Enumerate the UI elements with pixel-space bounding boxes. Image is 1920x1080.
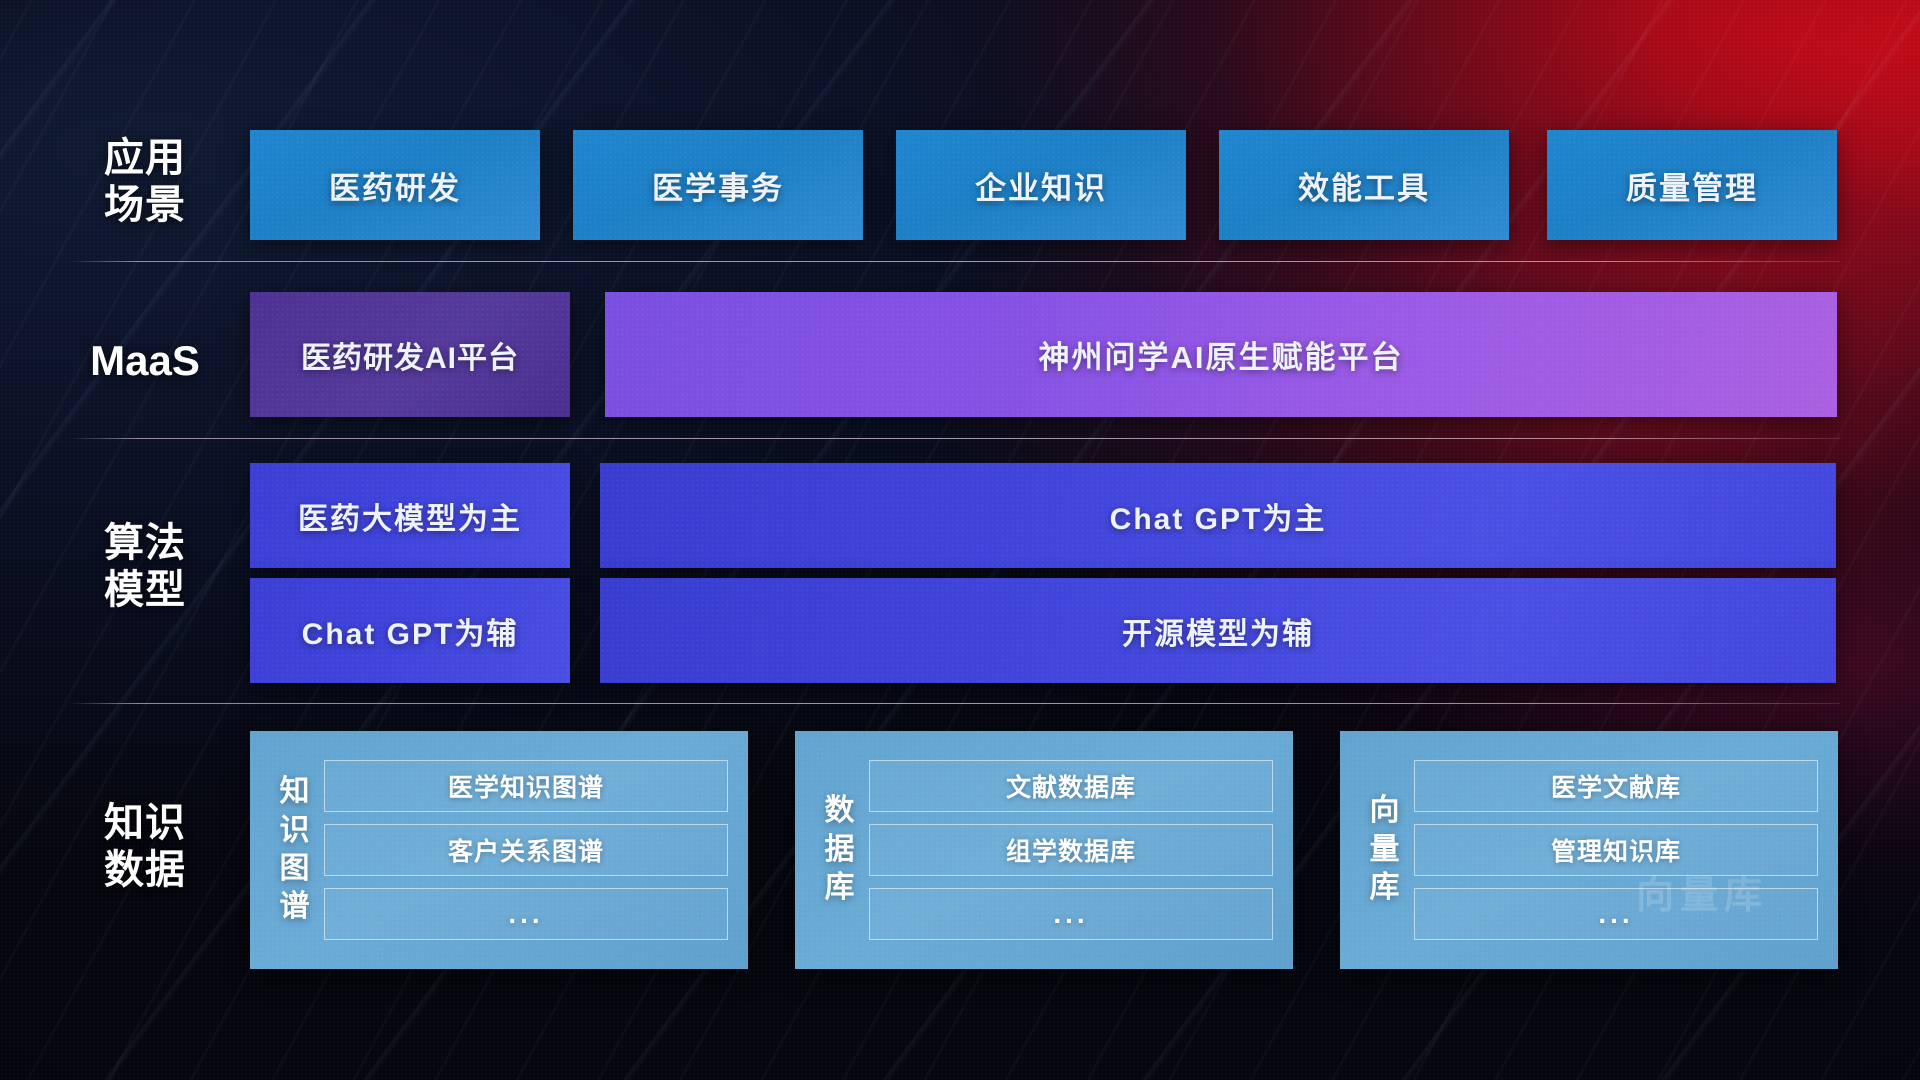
knowledge-item-medical-graph[interactable]: 医学知识图谱 <box>324 760 728 812</box>
knowledge-panel-graph-items: 医学知识图谱 客户关系图谱 ... <box>324 760 728 940</box>
knowledge-item-vector-more[interactable]: ... <box>1414 888 1818 940</box>
knowledge-item-database-more[interactable]: ... <box>869 888 1273 940</box>
app-card-medical-affairs-label: 医学事务 <box>652 163 784 208</box>
knowledge-panel-graph-title: 知 识 图 谱 <box>266 773 324 927</box>
maas-card-shenzhou-wenxue-platform-label: 神州问学AI原生赋能平台 <box>1039 332 1404 377</box>
app-card-quality-management-label: 质量管理 <box>1626 163 1758 208</box>
app-card-quality-management[interactable]: 质量管理 <box>1547 130 1837 240</box>
app-card-efficiency-tools-label: 效能工具 <box>1298 163 1430 208</box>
app-card-enterprise-knowledge[interactable]: 企业知识 <box>896 130 1186 240</box>
knowledge-item-omics-db[interactable]: 组学数据库 <box>869 824 1273 876</box>
knowledge-panel-database-items: 文献数据库 组学数据库 ... <box>869 760 1273 940</box>
algo-card-opensource-secondary[interactable]: 开源模型为辅 <box>600 578 1836 683</box>
knowledge-panel-vector-title: 向 量 库 <box>1356 792 1414 907</box>
knowledge-item-management-knowledge[interactable]: 管理知识库 <box>1414 824 1818 876</box>
knowledge-panel-graph[interactable]: 知 识 图 谱 医学知识图谱 客户关系图谱 ... <box>250 731 748 969</box>
knowledge-panel-database-title: 数 据 库 <box>811 792 869 907</box>
app-card-drug-rnd-label: 医药研发 <box>329 163 461 208</box>
algo-card-chatgpt-secondary[interactable]: Chat GPT为辅 <box>250 578 570 683</box>
algo-card-chatgpt-primary-label: Chat GPT为主 <box>1110 494 1327 538</box>
divider-algorithm-knowledge <box>68 703 1840 704</box>
algo-card-pharma-llm-primary[interactable]: 医药大模型为主 <box>250 463 570 568</box>
knowledge-panel-vector-items: 医学文献库 管理知识库 ... <box>1414 760 1818 940</box>
algo-card-pharma-llm-primary-label: 医药大模型为主 <box>298 494 522 538</box>
maas-card-shenzhou-wenxue-platform[interactable]: 神州问学AI原生赋能平台 <box>605 292 1837 417</box>
app-card-medical-affairs[interactable]: 医学事务 <box>573 130 863 240</box>
knowledge-item-medical-literature[interactable]: 医学文献库 <box>1414 760 1818 812</box>
divider-maas-algorithm <box>68 438 1840 439</box>
algo-card-chatgpt-secondary-label: Chat GPT为辅 <box>302 609 519 653</box>
knowledge-item-literature-db[interactable]: 文献数据库 <box>869 760 1273 812</box>
app-card-efficiency-tools[interactable]: 效能工具 <box>1219 130 1509 240</box>
row-label-application: 应用 场景 <box>60 135 230 229</box>
knowledge-panel-database[interactable]: 数 据 库 文献数据库 组学数据库 ... <box>795 731 1293 969</box>
app-card-drug-rnd[interactable]: 医药研发 <box>250 130 540 240</box>
row-label-maas: MaaS <box>60 336 230 386</box>
algo-card-chatgpt-primary[interactable]: Chat GPT为主 <box>600 463 1836 568</box>
slide-canvas: 应用 场景 医药研发 医学事务 企业知识 效能工具 质量管理 MaaS 医药研发… <box>0 0 1920 1080</box>
row-label-algorithm: 算法 模型 <box>60 520 230 614</box>
knowledge-item-customer-graph[interactable]: 客户关系图谱 <box>324 824 728 876</box>
divider-application-maas <box>68 261 1840 262</box>
algo-card-opensource-secondary-label: 开源模型为辅 <box>1122 609 1314 653</box>
maas-card-drug-rnd-ai-platform-label: 医药研发AI平台 <box>301 333 519 377</box>
row-label-knowledge: 知识 数据 <box>60 800 230 894</box>
maas-card-drug-rnd-ai-platform[interactable]: 医药研发AI平台 <box>250 292 570 417</box>
knowledge-item-graph-more[interactable]: ... <box>324 888 728 940</box>
app-card-enterprise-knowledge-label: 企业知识 <box>975 163 1107 208</box>
knowledge-panel-vector[interactable]: 向量库 向 量 库 医学文献库 管理知识库 ... <box>1340 731 1838 969</box>
